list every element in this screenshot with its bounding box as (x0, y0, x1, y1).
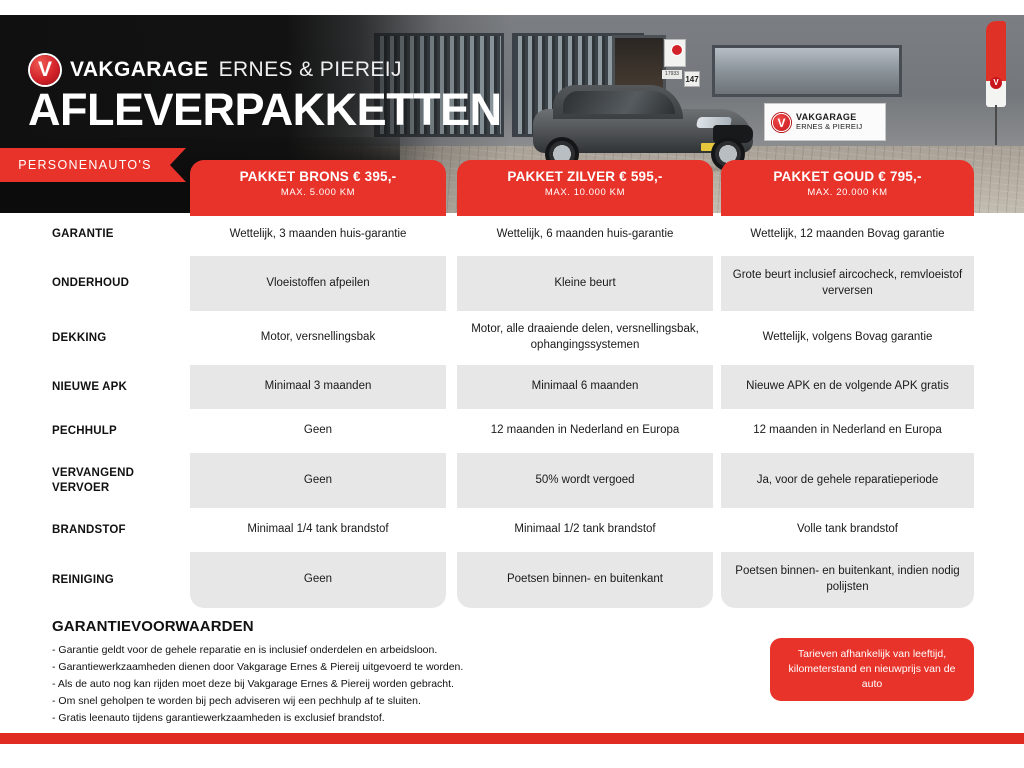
package-tab-goud[interactable]: PAKKET GOUD € 795,- MAX. 20.000 KM (721, 160, 974, 216)
row-cell-zilver: Kleine beurt (457, 256, 713, 311)
package-subtitle: MAX. 20.000 KM (721, 187, 974, 198)
table-row: VERVANGEND VERVOER Geen 50% wordt vergoe… (0, 453, 1024, 508)
row-cell-goud: Volle tank brandstof (721, 508, 974, 552)
row-cell-zilver: 12 maanden in Nederland en Europa (457, 409, 713, 453)
brand-location: ERNES & PIEREIJ (219, 58, 402, 82)
row-label: NIEUWE APK (52, 365, 187, 409)
row-cell-goud: 12 maanden in Nederland en Europa (721, 409, 974, 453)
row-cell-zilver: Poetsen binnen- en buitenkant (457, 552, 713, 608)
package-tab-brons[interactable]: PAKKET BRONS € 395,- MAX. 5.000 KM (190, 160, 446, 216)
table-row: REINIGING Geen Poetsen binnen- en buiten… (0, 552, 1024, 608)
row-label: PECHHULP (52, 409, 187, 453)
list-item: - Garantie geldt voor de gehele reparati… (52, 642, 612, 659)
row-cell-zilver: Wettelijk, 6 maanden huis-garantie (457, 213, 713, 256)
row-cell-zilver: Motor, alle draaiende delen, versnelling… (457, 311, 713, 365)
package-header-tabs: PAKKET BRONS € 395,- MAX. 5.000 KM PAKKE… (0, 160, 1024, 216)
row-cell-brons: Wettelijk, 3 maanden huis-garantie (190, 213, 446, 256)
row-cell-goud: Grote beurt inclusief aircocheck, remvlo… (721, 256, 974, 311)
row-label: VERVANGEND VERVOER (52, 453, 187, 508)
list-item: - Gratis leenauto tijdens garantiewerkza… (52, 710, 612, 727)
row-cell-goud: Poetsen binnen- en buitenkant, indien no… (721, 552, 974, 608)
row-label: ONDERHOUD (52, 256, 187, 311)
table-row: BRANDSTOF Minimaal 1/4 tank brandstof Mi… (0, 508, 1024, 552)
bottom-accent-bar (0, 733, 1024, 744)
package-subtitle: MAX. 10.000 KM (457, 187, 713, 198)
row-cell-brons: Minimaal 3 maanden (190, 365, 446, 409)
conditions-list: - Garantie geldt voor de gehele reparati… (52, 642, 612, 727)
row-cell-brons: Vloeistoffen afpeilen (190, 256, 446, 311)
row-label: DEKKING (52, 311, 187, 365)
row-cell-brons: Geen (190, 453, 446, 508)
row-label: GARANTIE (52, 213, 187, 256)
row-cell-goud: Nieuwe APK en de volgende APK gratis (721, 365, 974, 409)
row-cell-brons: Minimaal 1/4 tank brandstof (190, 508, 446, 552)
vakgarage-v-icon (30, 55, 60, 85)
warranty-conditions: GARANTIEVOORWAARDEN - Garantie geldt voo… (52, 618, 612, 727)
package-title: PAKKET BRONS € 395,- (190, 169, 446, 184)
list-item: - Garantiewerkzaamheden dienen door Vakg… (52, 659, 612, 676)
table-row: PECHHULP Geen 12 maanden in Nederland en… (0, 409, 1024, 453)
table-row: ONDERHOUD Vloeistoffen afpeilen Kleine b… (0, 256, 1024, 311)
row-cell-brons: Motor, versnellingsbak (190, 311, 446, 365)
package-title: PAKKET ZILVER € 595,- (457, 169, 713, 184)
row-cell-goud: Wettelijk, 12 maanden Bovag garantie (721, 213, 974, 256)
row-cell-brons: Geen (190, 409, 446, 453)
table-row: GARANTIE Wettelijk, 3 maanden huis-garan… (0, 213, 1024, 256)
row-label: REINIGING (52, 552, 187, 608)
package-title: PAKKET GOUD € 795,- (721, 169, 974, 184)
package-subtitle: MAX. 5.000 KM (190, 187, 446, 198)
conditions-title: GARANTIEVOORWAARDEN (52, 618, 612, 635)
page-title: AFLEVERPAKKETTEN (28, 87, 502, 132)
list-item: - Om snel geholpen te worden bij pech ad… (52, 693, 612, 710)
comparison-table: GARANTIE Wettelijk, 3 maanden huis-garan… (0, 213, 1024, 608)
row-cell-goud: Ja, voor de gehele reparatieperiode (721, 453, 974, 508)
brand-name: VAKGARAGE (70, 58, 209, 82)
row-cell-brons: Geen (190, 552, 446, 608)
table-row: NIEUWE APK Minimaal 3 maanden Minimaal 6… (0, 365, 1024, 409)
brand-logo: VAKGARAGE ERNES & PIEREIJ (30, 55, 402, 85)
package-tab-zilver[interactable]: PAKKET ZILVER € 595,- MAX. 10.000 KM (457, 160, 713, 216)
pricing-note-badge: Tarieven afhankelijk van leeftijd, kilom… (770, 638, 974, 701)
row-cell-goud: Wettelijk, volgens Bovag garantie (721, 311, 974, 365)
row-cell-zilver: 50% wordt vergoed (457, 453, 713, 508)
table-row: DEKKING Motor, versnellingsbak Motor, al… (0, 311, 1024, 365)
aflever-packages-page: 17933 147 VAKGARAGE ERNES & PIEREIJ (0, 0, 1024, 768)
row-label: BRANDSTOF (52, 508, 187, 552)
list-item: - Als de auto nog kan rijden moet deze b… (52, 676, 612, 693)
row-cell-zilver: Minimaal 6 maanden (457, 365, 713, 409)
row-cell-zilver: Minimaal 1/2 tank brandstof (457, 508, 713, 552)
